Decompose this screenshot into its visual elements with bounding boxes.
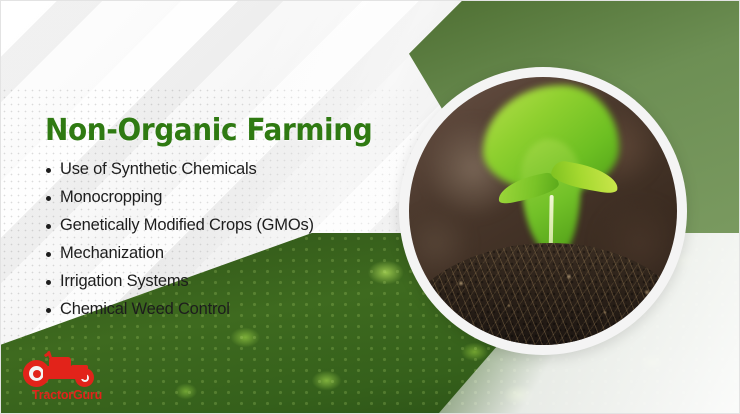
list-item: Monocropping — [45, 185, 395, 210]
page-title: Non-Organic Farming — [45, 113, 371, 148]
brand-name: TractorGuru — [15, 388, 119, 402]
list-item: Use of Synthetic Chemicals — [45, 157, 395, 182]
tractor-cab — [49, 357, 71, 369]
text-content-block: Non-Organic Farming Use of Synthetic Che… — [45, 113, 395, 325]
feature-list: Use of Synthetic Chemicals Monocropping … — [45, 157, 395, 322]
list-item: Chemical Weed Control — [45, 297, 395, 322]
list-item: Genetically Modified Crops (GMOs) — [45, 213, 395, 238]
infographic-canvas: Non-Organic Farming Use of Synthetic Che… — [0, 0, 740, 414]
tractor-hood — [71, 365, 88, 373]
tractor-icon — [23, 353, 111, 387]
seedling-photo-ring — [399, 67, 687, 355]
brand-logo[interactable]: TractorGuru — [15, 353, 135, 405]
list-item: Irrigation Systems — [45, 269, 395, 294]
list-item: Mechanization — [45, 241, 395, 266]
seedling-photo — [409, 77, 677, 345]
